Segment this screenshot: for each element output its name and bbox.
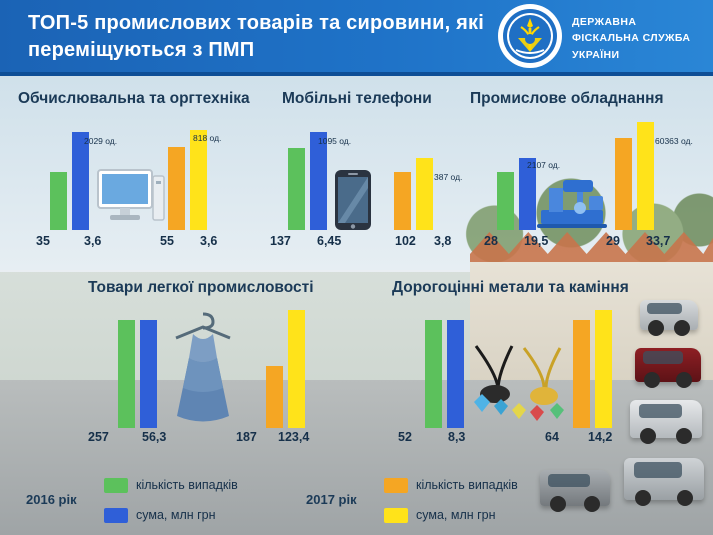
bar-sum-2016	[72, 132, 89, 230]
legend-label-sum-2016: сума, млн грн	[136, 508, 216, 522]
infographic-root: ТОП-5 промислових товарів та сировини, я…	[0, 0, 713, 535]
bar-cases-2017	[168, 147, 185, 230]
bar-cases-2017	[573, 320, 590, 428]
label-cases-2016: 28	[484, 234, 498, 248]
background-car	[640, 300, 698, 330]
label-cases-2017: 64	[545, 430, 559, 444]
background-car	[635, 348, 701, 382]
top-label-sum-2017: 818 од.	[193, 133, 221, 143]
header-stripe	[0, 72, 713, 76]
bar-cases-2017	[266, 366, 283, 428]
bar-sum-2017	[190, 130, 207, 230]
legend-swatch-sum-2016	[104, 508, 128, 523]
bar-cases-2017	[615, 138, 632, 230]
legend-label-cases-2017: кількість випадків	[416, 478, 518, 492]
section-title-computing: Обчислювальна та оргтехніка	[18, 90, 250, 108]
bar-sum-2017	[595, 310, 612, 428]
label-sum-2017: 3,6	[200, 234, 217, 248]
label-cases-2016: 257	[88, 430, 109, 444]
label-cases-2017: 29	[606, 234, 620, 248]
legend-label-sum-2017: сума, млн грн	[416, 508, 496, 522]
legend: 2016 рік кількість випадків сума, млн гр…	[0, 470, 713, 535]
label-sum-2016: 3,6	[84, 234, 101, 248]
industrial-machine-icon	[533, 170, 613, 235]
label-sum-2017: 33,7	[646, 234, 670, 248]
label-sum-2017: 14,2	[588, 430, 612, 444]
legend-swatch-sum-2017	[384, 508, 408, 523]
top-label-sum-2016: 2029 од.	[84, 136, 117, 146]
bar-sum-2016	[310, 132, 327, 230]
bar-cases-2016	[118, 320, 135, 428]
bar-cases-2016	[425, 320, 442, 428]
label-cases-2017: 55	[160, 234, 174, 248]
legend-label-cases-2016: кількість випадків	[136, 478, 238, 492]
org-line-2: ФІСКАЛЬНА СЛУЖБА	[572, 30, 690, 46]
top-label-sum-2017: 387 од.	[434, 172, 462, 182]
mobile-phone-icon	[333, 168, 373, 237]
top-label-sum-2016: 1095 од.	[318, 136, 351, 146]
org-line-1: ДЕРЖАВНА	[572, 14, 690, 30]
organization-name: ДЕРЖАВНА ФІСКАЛЬНА СЛУЖБА УКРАЇНИ	[572, 14, 690, 63]
dress-icon	[166, 312, 240, 433]
legend-swatch-cases-2017	[384, 478, 408, 493]
legend-swatch-cases-2016	[104, 478, 128, 493]
jewellery-icon	[468, 340, 572, 431]
label-cases-2017: 102	[395, 234, 416, 248]
top-label-sum-2016: 2107 од.	[527, 160, 560, 170]
section-title-precious: Дорогоцінні метали та каміння	[392, 279, 629, 297]
label-cases-2016: 35	[36, 234, 50, 248]
label-sum-2016: 56,3	[142, 430, 166, 444]
bar-cases-2017	[394, 172, 411, 230]
bar-cases-2016	[288, 148, 305, 230]
bar-sum-2017	[288, 310, 305, 428]
page-title: ТОП-5 промислових товарів та сировини, я…	[0, 0, 498, 64]
label-sum-2017: 123,4	[278, 430, 309, 444]
background-car	[630, 400, 702, 438]
section-title-machinery: Промислове обладнання	[470, 90, 664, 108]
label-cases-2017: 187	[236, 430, 257, 444]
section-title-phones: Мобільні телефони	[282, 90, 432, 108]
legend-year-2017: 2017 рік	[306, 492, 357, 507]
label-sum-2016: 6,45	[317, 234, 341, 248]
label-sum-2017: 3,8	[434, 234, 451, 248]
label-cases-2016: 52	[398, 430, 412, 444]
bar-sum-2017	[637, 122, 654, 230]
label-cases-2016: 137	[270, 234, 291, 248]
section-title-light-industry: Товари легкої промисловості	[88, 279, 314, 297]
org-line-3: УКРАЇНИ	[572, 47, 690, 63]
coat-of-arms-icon	[498, 4, 562, 68]
bar-sum-2017	[416, 158, 433, 230]
monitor-icon	[96, 168, 166, 235]
label-sum-2016: 8,3	[448, 430, 465, 444]
top-label-sum-2017: 60363 од.	[655, 136, 693, 146]
bar-cases-2016	[50, 172, 67, 230]
legend-year-2016: 2016 рік	[26, 492, 77, 507]
bar-cases-2016	[497, 172, 514, 230]
page-header: ТОП-5 промислових товарів та сировини, я…	[0, 0, 713, 72]
bar-sum-2016	[447, 320, 464, 428]
label-sum-2016: 19,5	[524, 234, 548, 248]
bar-sum-2016	[140, 320, 157, 428]
